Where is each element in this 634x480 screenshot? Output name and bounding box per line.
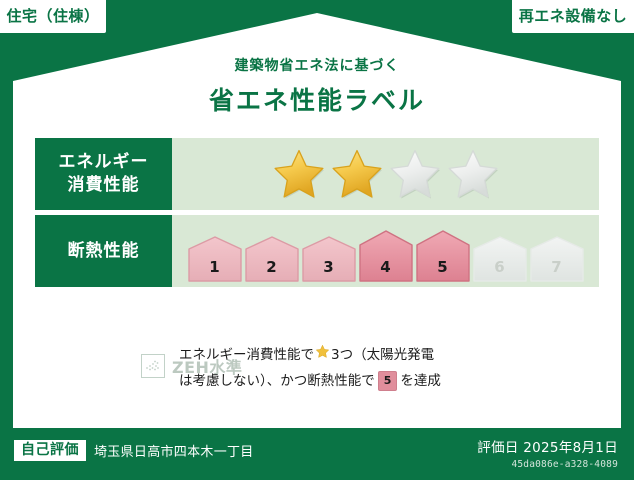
zeh-house-icon [141, 354, 165, 378]
metric-rows: エネルギー 消費性能 断熱性能 1234567 [35, 138, 599, 292]
row-insulation-performance-body: 1234567 [172, 215, 599, 287]
insulation-grade-1: 1 [188, 236, 242, 282]
insulation-grade-3: 3 [302, 236, 356, 282]
achievement-description: エネルギー消費性能で 3つ（太陽光発電 は考慮しない）、かつ断熱性能で 5 を達… [175, 343, 599, 394]
row-energy-consumption: エネルギー 消費性能 [35, 138, 599, 210]
achievement-description-line2: は考慮しない）、かつ断熱性能で 5 を達成 [179, 369, 599, 395]
row-energy-consumption-label-line1: エネルギー [59, 151, 149, 174]
insulation-grade-2: 2 [245, 236, 299, 282]
star-empty-icon [446, 147, 500, 201]
label-subtitle: 建築物省エネ法に基づく [13, 55, 621, 75]
energy-performance-label: 住宅（住棟） 再エネ設備なし 建築物省エネ法に基づく 省エネ性能ラベル エネルギ… [0, 0, 634, 480]
star-empty-icon [388, 147, 442, 201]
insulation-grade-4: 4 [359, 230, 413, 282]
self-evaluation-badge: 自己評価 [14, 440, 86, 461]
description-line2-prefix: は考慮しない）、かつ断熱性能で [179, 369, 375, 395]
insulation-grade-4-number: 4 [359, 258, 413, 276]
row-insulation-performance-label: 断熱性能 [35, 215, 172, 287]
tab-building-type: 住宅（住棟） [0, 0, 106, 33]
document-id: 45da086e-a328-4089 [477, 459, 618, 470]
footer-left-group: 自己評価 埼玉県日高市四本木一丁目 [14, 440, 254, 461]
label-footer: 自己評価 埼玉県日高市四本木一丁目 評価日 2025年8月1日 45da086e… [0, 428, 634, 480]
insulation-grade-7-number: 7 [530, 258, 584, 276]
row-energy-consumption-label: エネルギー 消費性能 [35, 138, 172, 210]
achievement-description-line1: エネルギー消費性能で 3つ（太陽光発電 [179, 343, 599, 369]
description-line2-suffix: を達成 [400, 369, 441, 395]
page-title: 省エネ性能ラベル [13, 81, 621, 117]
row-energy-consumption-body [172, 138, 599, 210]
insulation-grade-6: 6 [473, 236, 527, 282]
insulation-grade-1-number: 1 [188, 258, 242, 276]
tab-renewable-energy-label: 再エネ設備なし [519, 9, 628, 24]
insulation-grade-6-number: 6 [473, 258, 527, 276]
insulation-grade-7: 7 [530, 236, 584, 282]
star-filled-icon [330, 147, 384, 201]
tab-building-type-label: 住宅（住棟） [6, 9, 99, 24]
star-rating [272, 147, 500, 201]
description-line1-suffix: 3つ（太陽光発電 [331, 343, 434, 369]
footer-right-group: 評価日 2025年8月1日 45da086e-a328-4089 [477, 436, 618, 470]
inline-star-icon [315, 343, 330, 369]
row-energy-consumption-label-line2: 消費性能 [68, 174, 140, 197]
label-title-block: 建築物省エネ法に基づく 省エネ性能ラベル [13, 55, 621, 117]
insulation-grade-scale: 1234567 [188, 220, 584, 282]
insulation-grade-2-number: 2 [245, 258, 299, 276]
insulation-grade-5: 5 [416, 230, 470, 282]
evaluation-date: 評価日 2025年8月1日 [477, 436, 618, 456]
row-insulation-performance: 断熱性能 1234567 [35, 215, 599, 287]
star-filled-icon [272, 147, 326, 201]
zeh-description-area: ZEH水準 エネルギー消費性能で 3つ（太陽光発電 は考慮しない）、かつ断熱性能… [35, 343, 599, 394]
zeh-badge: ZEH水準 [35, 343, 175, 378]
property-address: 埼玉県日高市四本木一丁目 [94, 441, 254, 460]
description-line1-prefix: エネルギー消費性能で [179, 343, 314, 369]
inline-grade-chip: 5 [378, 371, 398, 391]
row-insulation-performance-label-text: 断熱性能 [68, 240, 140, 263]
tab-renewable-energy: 再エネ設備なし [512, 0, 634, 33]
insulation-grade-3-number: 3 [302, 258, 356, 276]
insulation-grade-5-number: 5 [416, 258, 470, 276]
